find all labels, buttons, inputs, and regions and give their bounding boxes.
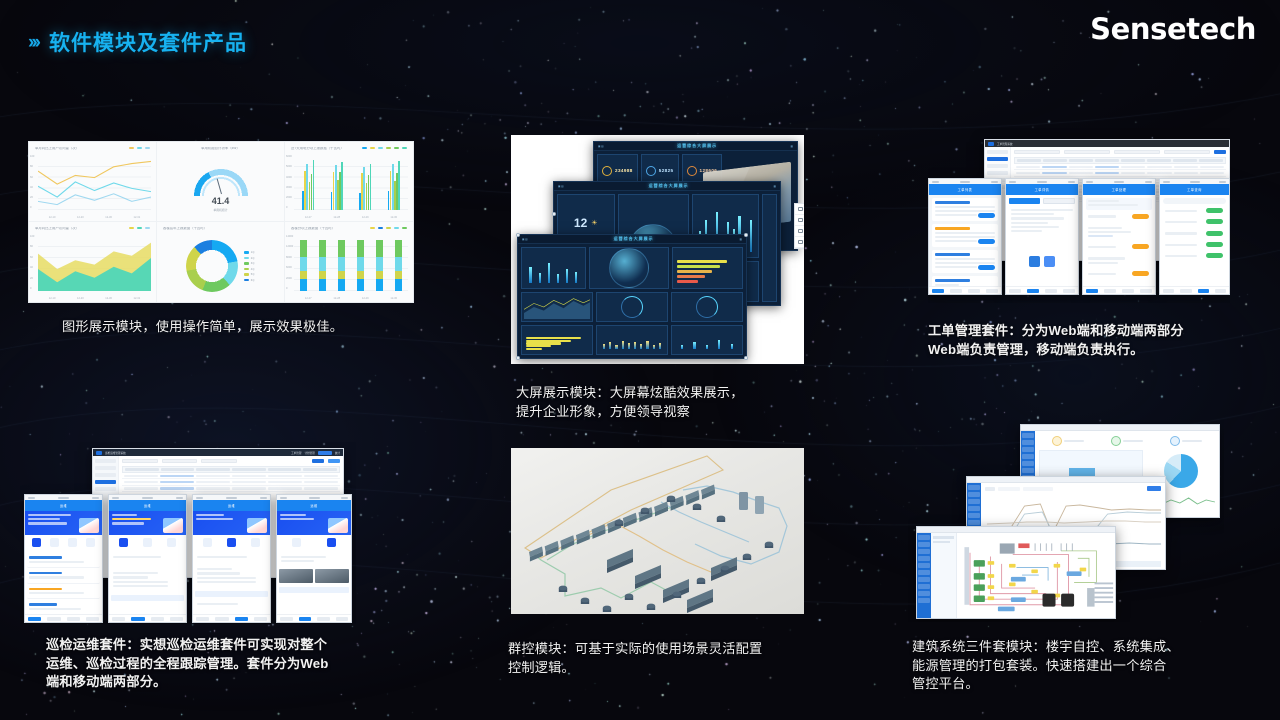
caption-big-screen: 大屏展示模块：大屏幕炫酷效果展示， 提升企业形象，方便领导视察 [516, 384, 816, 421]
caption-work-order: 工单管理套件：分为Web端和移动端两部分 Web端负责管理，移动端负责执行。 [928, 322, 1248, 359]
screenshot-building-systems[interactable] [908, 420, 1224, 622]
bigscreen-title: 运营综合大屏展示 [608, 143, 787, 149]
mobile-title: 工单处理 [1112, 187, 1127, 192]
mobile-app-record[interactable]: 运维 [192, 494, 271, 623]
chart-legend [129, 147, 150, 149]
kpi-card [1111, 436, 1143, 446]
illustration [163, 518, 183, 533]
illustration [247, 518, 267, 533]
toolbar-item[interactable] [985, 487, 995, 491]
donut-legend: 1号 2号 3号 4号 5号 6号 [244, 250, 254, 282]
window-title: 巡检运维管理系统 [105, 451, 126, 455]
nav-item[interactable]: 计划管理 [304, 451, 314, 455]
hero-banner [193, 511, 270, 535]
caption-group-control: 群控模块：可基于实际的使用场景灵活配置 控制逻辑。 [508, 640, 838, 677]
tab-active[interactable] [1009, 198, 1040, 204]
action-bar[interactable] [195, 591, 268, 597]
mobile-app-process[interactable]: 工单处理 [1082, 178, 1156, 295]
chart-legend [370, 227, 407, 229]
mobile-title: 运维 [60, 503, 67, 508]
bigscreen-title: 运营综合大屏展示 [532, 236, 736, 242]
chart-donut-floors: 各楼层年上报数据（千瓦时） 1号 2号 3号 4号 5号 6号 [157, 222, 285, 302]
bigscreen-title: 运营综合大屏展示 [568, 183, 770, 189]
list-item[interactable] [932, 224, 998, 247]
hero-banner [25, 511, 102, 535]
caption-inspection: 巡检运维套件：实想巡检运维套件可实现对整个 运维、巡检过程的全程跟踪管理。套件分… [46, 636, 396, 692]
caption-building-trio: 建筑系统三件套模块：楼宇自控、系统集成、 能源管理的打包套装。快速搭建出一个综合… [912, 638, 1242, 694]
tree-panel[interactable] [931, 533, 957, 618]
mobile-title: 运维 [144, 503, 151, 508]
list-item[interactable] [932, 250, 998, 273]
bigscreen-window-bottom[interactable]: ▣ ▤运营综合大屏展示▦ [517, 234, 747, 359]
quick-actions[interactable] [193, 535, 270, 550]
mobile-app-status[interactable]: 工单查询 [1159, 178, 1230, 295]
quick-actions[interactable] [277, 535, 351, 550]
chart-area-visits: 单月同比上用户访问量（次） 100806040200 12-1012-2012-… [29, 222, 157, 302]
action-button[interactable] [978, 213, 995, 218]
screenshot-work-order-suite[interactable]: 工单管理系统 工单列表 [928, 128, 1230, 303]
gauge-dial [621, 296, 643, 318]
screenshot-analytics-dashboard[interactable]: 单月同比上用户访问量（次） 100806040200 12-1012-2012-… [28, 141, 414, 303]
photo-thumbnail[interactable] [279, 569, 313, 583]
chart-grouped-bar: 近7天用电分项上报数据（千瓦时） 600050004000300020000 1… [285, 142, 413, 222]
mobile-app-task[interactable]: 运维 [108, 494, 187, 623]
chart-legend [362, 147, 407, 149]
table-header [1014, 157, 1226, 164]
mobile-app-detail[interactable]: 工单详情 [1005, 178, 1079, 295]
table-header [122, 466, 340, 473]
quick-actions[interactable] [25, 535, 102, 550]
avatar [1044, 256, 1055, 267]
bar-chart [526, 260, 581, 283]
illustration [79, 518, 99, 533]
brand-logo: Sensetech [1090, 12, 1256, 46]
action-bar[interactable] [111, 595, 184, 601]
resize-handle[interactable] [516, 233, 520, 237]
status-badge [1132, 271, 1149, 276]
crop-icon[interactable] [795, 204, 804, 215]
status-badge [1206, 208, 1223, 213]
settings-icon[interactable] [795, 237, 804, 248]
caption-graph-display: 图形展示模块，使用操作简单，展示效果极佳。 [62, 318, 442, 337]
bar-series [294, 156, 408, 210]
resize-handle[interactable] [744, 356, 748, 360]
scada-diagram [957, 533, 1115, 618]
status-badge [1206, 242, 1223, 247]
list-item[interactable] [932, 276, 998, 286]
resize-handle[interactable] [516, 356, 520, 360]
nav-item-active[interactable] [318, 451, 332, 455]
rotate-icon[interactable] [795, 226, 804, 237]
mobile-title: 运维 [228, 503, 235, 508]
resize-handle[interactable] [744, 233, 748, 237]
hero-banner [277, 511, 351, 535]
page-title: 软件模块及套件产品 [49, 27, 247, 57]
action-bar[interactable] [279, 587, 349, 593]
avatar [1029, 256, 1040, 267]
mobile-title: 工单查询 [1187, 187, 1202, 192]
mobile-app-photos[interactable]: 运维 [276, 494, 352, 623]
chart-stacked-bar: 各楼分项上报数据（千瓦时） 14000120008000600020000 [285, 222, 413, 302]
export-button[interactable] [328, 459, 340, 463]
page-header: ››› 软件模块及套件产品 Sensetech [0, 0, 1280, 72]
tab-inactive[interactable] [1043, 198, 1076, 204]
hero-banner [109, 511, 186, 535]
weather-value: 12 [574, 216, 587, 230]
bar-chart [601, 338, 663, 349]
quick-actions[interactable] [109, 535, 186, 550]
list-item[interactable] [932, 198, 998, 221]
table-row[interactable] [122, 486, 340, 492]
gauge-dial [696, 296, 718, 318]
mobile-title: 工单详情 [1035, 187, 1050, 192]
screenshot-isometric-hvac[interactable] [511, 448, 804, 614]
query-button[interactable] [1147, 486, 1161, 491]
image-toolbar[interactable] [794, 203, 804, 249]
chart-title: 单用机组合计功率（kW） [163, 147, 278, 150]
illustration [328, 518, 348, 533]
chart-legend [129, 227, 150, 229]
search-button[interactable] [1214, 150, 1226, 154]
page-title-group: ››› 软件模块及套件产品 [28, 27, 247, 57]
search-input[interactable] [1163, 198, 1226, 204]
status-badge [1206, 219, 1223, 224]
chart-line-visits: 单月同比上用户访问量（次） 100806040200 12-1012-2012-… [29, 142, 157, 222]
hvac-diagram [511, 448, 804, 614]
bar-chart [676, 338, 738, 349]
mobile-title: 运维 [310, 503, 317, 508]
window-title: 工单管理系统 [997, 142, 1013, 146]
zoom-icon[interactable] [795, 215, 804, 226]
toolbar-item[interactable] [1023, 487, 1053, 491]
action-button[interactable] [978, 265, 995, 270]
app-logo [96, 451, 102, 455]
mobile-app-home[interactable]: 运维 [24, 494, 103, 623]
action-button[interactable] [978, 239, 995, 244]
screenshot-big-screen-dashboards[interactable]: ▣ ▤运营综合大屏展示▦ 234988 52825 128606 [511, 135, 804, 364]
status-badge [1206, 231, 1223, 236]
nav-item[interactable]: 工单管理 [291, 451, 301, 455]
globe-visual [609, 248, 649, 288]
nav-item[interactable]: 统计 [335, 451, 340, 455]
mobile-title: 工单列表 [958, 187, 973, 192]
status-badge [1132, 214, 1149, 219]
gauge-sub-label: 单用机组计 [214, 208, 228, 212]
screenshot-inspection-suite[interactable]: 巡检运维管理系统 工单管理 计划管理 统计 运维 [20, 442, 356, 624]
gauge-dial [192, 162, 250, 196]
kpi-value: 52825 [659, 168, 674, 173]
bar-series [294, 236, 408, 291]
chart-title: 各楼层年上报数据（千瓦时） [163, 227, 278, 230]
photo-thumbnail[interactable] [315, 569, 349, 583]
toolbar-item[interactable] [998, 487, 1020, 491]
kpi-card [1052, 436, 1084, 446]
status-badge [1206, 253, 1223, 258]
chevron-right-icon: ››› [28, 33, 38, 52]
chart-gauge-power: 单用机组合计功率（kW） 41.4 单用机组计 [157, 142, 285, 222]
gauge-value: 41.4 [212, 197, 230, 206]
kpi-row [1035, 431, 1219, 448]
scada-window[interactable] [916, 526, 1116, 619]
resize-handle[interactable] [552, 212, 556, 216]
mobile-app-worklist[interactable]: 工单列表 [928, 178, 1002, 295]
donut-ring [186, 240, 238, 292]
status-badge [1132, 244, 1149, 249]
sun-icon: ☀ [591, 219, 597, 227]
kpi-value: 234988 [615, 168, 633, 173]
add-button[interactable] [312, 459, 324, 463]
kpi-card [1170, 436, 1202, 446]
app-logo [988, 142, 994, 146]
